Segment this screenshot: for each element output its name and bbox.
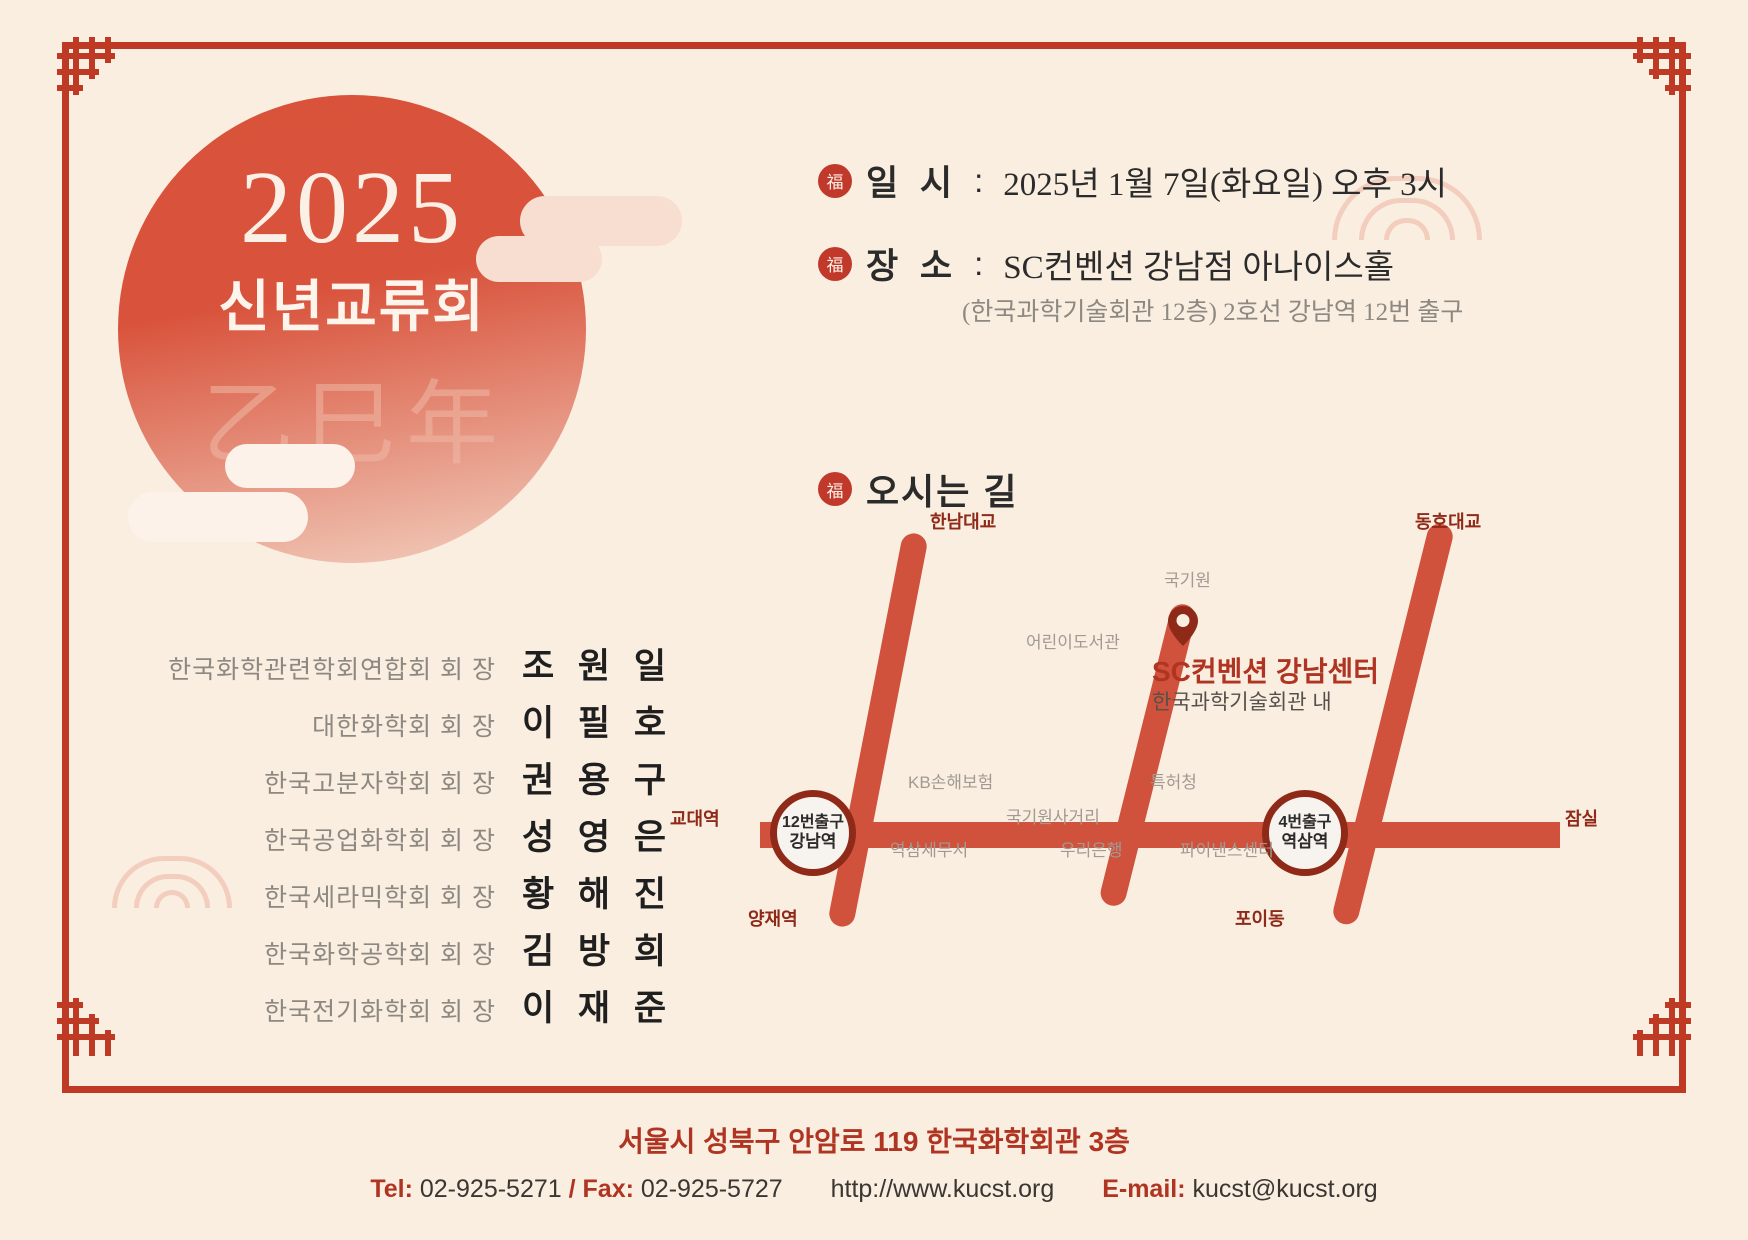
map-poi-label: 우리은행	[1060, 836, 1123, 861]
officer-row: 한국화학공학회 회 장김 방 희	[130, 923, 650, 980]
frame-top-line	[62, 42, 1686, 49]
station-name-label: 강남역	[790, 832, 837, 852]
officer-name: 성 영 은	[522, 809, 650, 860]
place-label: 장 소	[866, 238, 958, 289]
station-marker-gangnam[interactable]: 12번출구 강남역	[770, 790, 856, 876]
frame-left-line	[62, 42, 69, 1093]
poster-canvas: 乙巳年 2025 신년교류회 福 일 시 : 2025년 1월 7일(화요일) …	[0, 0, 1748, 1240]
officer-row: 한국화학관련학회연합회 회 장조 원 일	[130, 638, 650, 695]
map-poi-label: KB손해보험	[908, 768, 993, 793]
map-landmark-label: 포이동	[1235, 905, 1285, 931]
officer-row: 한국고분자학회 회 장권 용 구	[130, 752, 650, 809]
officers-list: 한국화학관련학회연합회 회 장조 원 일대한화학회 회 장이 필 호한국고분자학…	[130, 638, 650, 1037]
officer-organization: 한국전기화학회 회 장	[264, 992, 496, 1028]
officer-row: 한국공업화학회 회 장성 영 은	[130, 809, 650, 866]
officer-organization: 한국화학공학회 회 장	[264, 935, 496, 971]
map-road-diagonal-3	[1331, 521, 1456, 927]
station-name-label: 역삼역	[1282, 832, 1329, 852]
corner-ornament-bottom-right	[1617, 982, 1691, 1056]
officer-name: 조 원 일	[522, 638, 650, 689]
officer-row: 한국전기화학회 회 장이 재 준	[130, 980, 650, 1037]
map-landmark-label: 한남대교	[930, 508, 996, 534]
map-landmark-label: 동호대교	[1415, 508, 1481, 534]
route-map: 12번출구 강남역 4번출구 역삼역 SC컨벤션 강남센터 한국과학기술회관 내…	[690, 500, 1570, 950]
officer-name: 이 재 준	[522, 980, 650, 1031]
map-landmark-label: 교대역	[670, 805, 720, 831]
fortune-badge-icon: 福	[818, 247, 852, 281]
place-value: SC컨벤션 강남점 아나이스홀	[1003, 240, 1394, 288]
map-poi-label: 국기원사거리	[1006, 803, 1100, 828]
date-colon: :	[974, 162, 983, 200]
cloud-shape-2	[476, 236, 602, 282]
station-exit-label: 12번출구	[782, 814, 844, 833]
officer-organization: 대한화학회 회 장	[312, 707, 496, 743]
corner-ornament-top-right	[1617, 37, 1691, 111]
map-poi-label: 특허청	[1150, 768, 1197, 793]
officer-name: 이 필 호	[522, 695, 650, 746]
officer-organization: 한국화학관련학회연합회 회 장	[168, 650, 496, 686]
frame-bottom-line	[62, 1086, 1686, 1093]
officer-row: 한국세라믹학회 회 장황 해 진	[130, 866, 650, 923]
corner-ornament-top-left	[57, 37, 131, 111]
frame-right-line	[1679, 42, 1686, 1093]
map-road-horizontal	[760, 822, 1560, 848]
map-poi-label: 국기원	[1164, 566, 1211, 591]
location-pin-icon	[1168, 606, 1198, 646]
fortune-badge-icon: 福	[818, 164, 852, 198]
officer-row: 대한화학회 회 장이 필 호	[130, 695, 650, 752]
cloud-shape-4	[128, 492, 308, 542]
officer-name: 권 용 구	[522, 752, 650, 803]
station-marker-yeoksam[interactable]: 4번출구 역삼역	[1262, 790, 1348, 876]
tel-value: 02-925-5271	[420, 1175, 562, 1203]
website-url[interactable]: http://www.kucst.org	[831, 1175, 1055, 1203]
map-road-diagonal-1	[827, 531, 929, 929]
contact-separator: /	[569, 1175, 576, 1203]
date-value: 2025년 1월 7일(화요일) 오후 3시	[1003, 157, 1447, 205]
map-landmark-label: 잠실	[1565, 805, 1598, 831]
footer-contact: Tel: 02-925-5271 / Fax: 02-925-5727 http…	[0, 1175, 1748, 1204]
officer-organization: 한국고분자학회 회 장	[264, 764, 496, 800]
station-exit-label: 4번출구	[1278, 814, 1331, 833]
map-poi-label: 역삼세무서	[890, 836, 968, 861]
footer-address: 서울시 성북구 안암로 119 한국화학회관 3층	[0, 1120, 1748, 1160]
officer-organization: 한국세라믹학회 회 장	[264, 878, 496, 914]
info-row-date: 福 일 시 : 2025년 1월 7일(화요일) 오후 3시	[818, 155, 1447, 206]
fax-label: Fax:	[583, 1175, 634, 1203]
info-row-place: 福 장 소 : SC컨벤션 강남점 아나이스홀	[818, 238, 1394, 289]
officer-organization: 한국공업화학회 회 장	[264, 821, 496, 857]
map-poi-label: 어린이도서관	[1026, 628, 1120, 653]
map-landmark-label: 양재역	[748, 905, 798, 931]
officer-name: 황 해 진	[522, 866, 650, 917]
officer-name: 김 방 희	[522, 923, 650, 974]
place-sub-detail: (한국과학기술회관 12층) 2호선 강남역 12번 출구	[962, 292, 1463, 328]
tel-label: Tel:	[370, 1175, 413, 1203]
cloud-shape-3	[225, 444, 355, 488]
fax-value: 02-925-5727	[641, 1175, 783, 1203]
map-poi-label: 파이낸스센터	[1180, 836, 1274, 861]
venue-title: SC컨벤션 강남센터	[1152, 650, 1379, 690]
email-value[interactable]: kucst@kucst.org	[1193, 1175, 1378, 1203]
place-colon: :	[974, 245, 983, 283]
date-label: 일 시	[866, 155, 958, 206]
venue-subtitle: 한국과학기술회관 내	[1152, 686, 1332, 716]
corner-ornament-bottom-left	[57, 982, 131, 1056]
email-label: E-mail:	[1102, 1175, 1185, 1203]
hero-ghost-hanja: 乙巳年	[140, 350, 570, 483]
